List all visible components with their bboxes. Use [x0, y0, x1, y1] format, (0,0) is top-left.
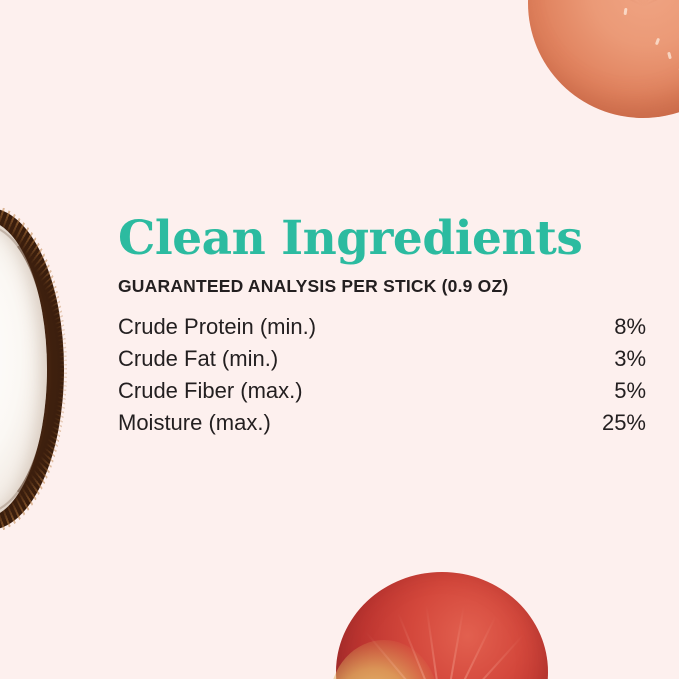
- guaranteed-analysis-table: Crude Protein (min.) 8% Crude Fat (min.)…: [118, 311, 646, 439]
- apple-blush: [330, 640, 438, 679]
- guaranteed-analysis-subtitle: GUARANTEED ANALYSIS PER STICK (0.9 OZ): [118, 276, 646, 297]
- coconut-husk: [0, 208, 64, 530]
- analysis-label: Crude Fiber (max.): [118, 375, 550, 407]
- apple-body: [336, 572, 548, 679]
- pumpkin-rib: [642, 0, 671, 6]
- pumpkin-rib: [545, 0, 643, 7]
- table-row: Crude Protein (min.) 8%: [118, 311, 646, 343]
- analysis-value: 8%: [550, 311, 646, 343]
- coconut-half-photo: [0, 208, 64, 530]
- apple-streak: [442, 606, 465, 679]
- analysis-value: 5%: [550, 375, 646, 407]
- analysis-label: Moisture (max.): [118, 407, 550, 439]
- analysis-value: 25%: [550, 407, 646, 439]
- product-info-panel: Clean Ingredients GUARANTEED ANALYSIS PE…: [0, 0, 679, 679]
- table-row: Moisture (max.) 25%: [118, 407, 646, 439]
- apple-streak: [442, 634, 524, 679]
- pumpkin-photo: [528, 0, 679, 118]
- pumpkin-rib: [619, 0, 644, 6]
- coconut-flesh: [0, 220, 47, 518]
- coconut-fiber: [0, 205, 67, 533]
- apple-streak: [397, 612, 444, 679]
- table-row: Crude Fiber (max.) 5%: [118, 375, 646, 407]
- analysis-label: Crude Fat (min.): [118, 343, 550, 375]
- analysis-label: Crude Protein (min.): [118, 311, 550, 343]
- pumpkin-blemish: [667, 52, 672, 60]
- pumpkin-rib: [581, 0, 644, 7]
- apple-streak: [442, 616, 496, 679]
- table-row: Crude Fat (min.) 3%: [118, 343, 646, 375]
- pumpkin-rib: [643, 0, 679, 7]
- pumpkin-rib: [642, 0, 679, 7]
- apple-streak: [425, 605, 444, 679]
- ingredients-text-block: Clean Ingredients GUARANTEED ANALYSIS PE…: [118, 212, 646, 439]
- pumpkin-blemish: [655, 38, 660, 46]
- page-title: Clean Ingredients: [118, 212, 646, 266]
- analysis-value: 3%: [550, 343, 646, 375]
- apple-photo: [336, 572, 548, 679]
- pumpkin-flesh: [528, 0, 679, 118]
- pumpkin-blemish: [624, 8, 628, 15]
- coconut-shell-edge: [0, 224, 51, 514]
- apple-streak: [365, 631, 444, 679]
